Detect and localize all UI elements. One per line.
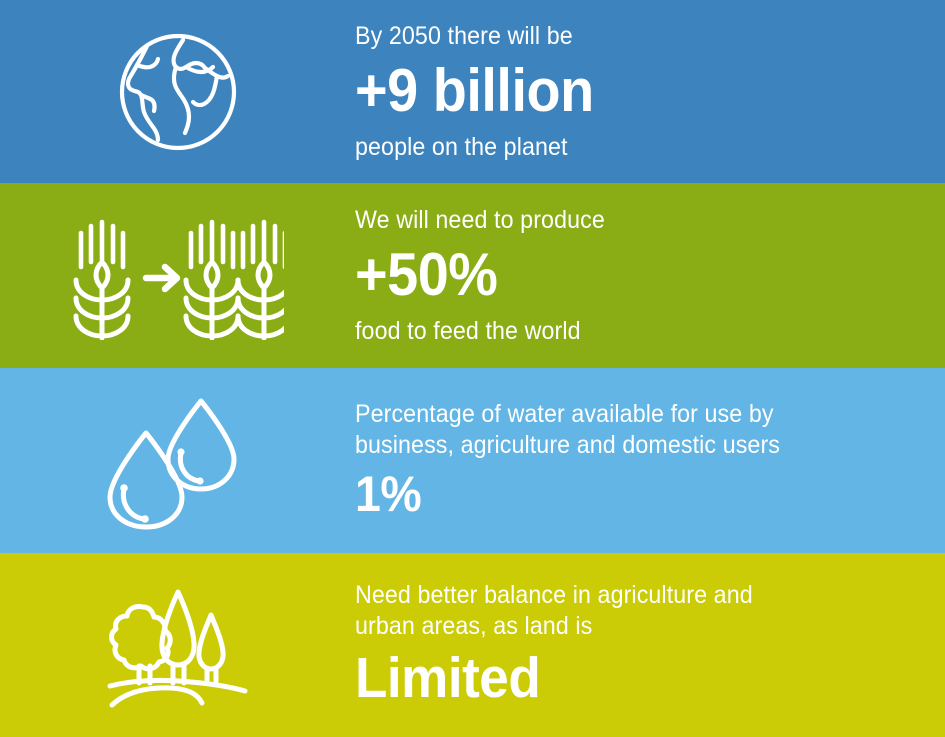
- land-caption-line-2: urban areas, as land is: [355, 611, 881, 642]
- population-text: By 2050 there will be +9 billion people …: [355, 21, 945, 163]
- water-caption-line-1: Percentage of water available for use by: [355, 399, 881, 430]
- food-caption-above: We will need to produce: [355, 205, 881, 236]
- water-caption-line-2: business, agriculture and domestic users: [355, 430, 881, 461]
- water-text: Percentage of water available for use by…: [355, 399, 945, 523]
- arrow-icon: [146, 267, 177, 289]
- population-headline: +9 billion: [355, 56, 881, 126]
- wheat-growth-icon-cell: [0, 183, 355, 368]
- trees-landscape-icon: [103, 583, 253, 708]
- food-caption-below: food to feed the world: [355, 316, 881, 347]
- land-caption-line-1: Need better balance in agriculture and: [355, 580, 881, 611]
- food-headline: +50%: [355, 240, 881, 310]
- water-headline: 1%: [355, 465, 881, 523]
- population-caption-above: By 2050 there will be: [355, 21, 881, 52]
- wheat-growth-icon: [72, 212, 284, 340]
- band-food-production: We will need to produce +50% food to fee…: [0, 183, 945, 368]
- band-land-limited: Need better balance in agriculture and u…: [0, 553, 945, 737]
- globe-icon: [113, 27, 243, 157]
- band-population: By 2050 there will be +9 billion people …: [0, 0, 945, 183]
- water-droplets-icon-cell: [0, 368, 355, 553]
- population-caption-below: people on the planet: [355, 132, 881, 163]
- land-text: Need better balance in agriculture and u…: [355, 580, 945, 710]
- band-water-availability: Percentage of water available for use by…: [0, 368, 945, 553]
- food-text: We will need to produce +50% food to fee…: [355, 205, 945, 347]
- globe-icon-cell: [0, 0, 355, 183]
- land-headline: Limited: [355, 646, 881, 710]
- infographic-root: By 2050 there will be +9 billion people …: [0, 0, 945, 737]
- trees-landscape-icon-cell: [0, 553, 355, 737]
- water-droplets-icon: [98, 391, 258, 531]
